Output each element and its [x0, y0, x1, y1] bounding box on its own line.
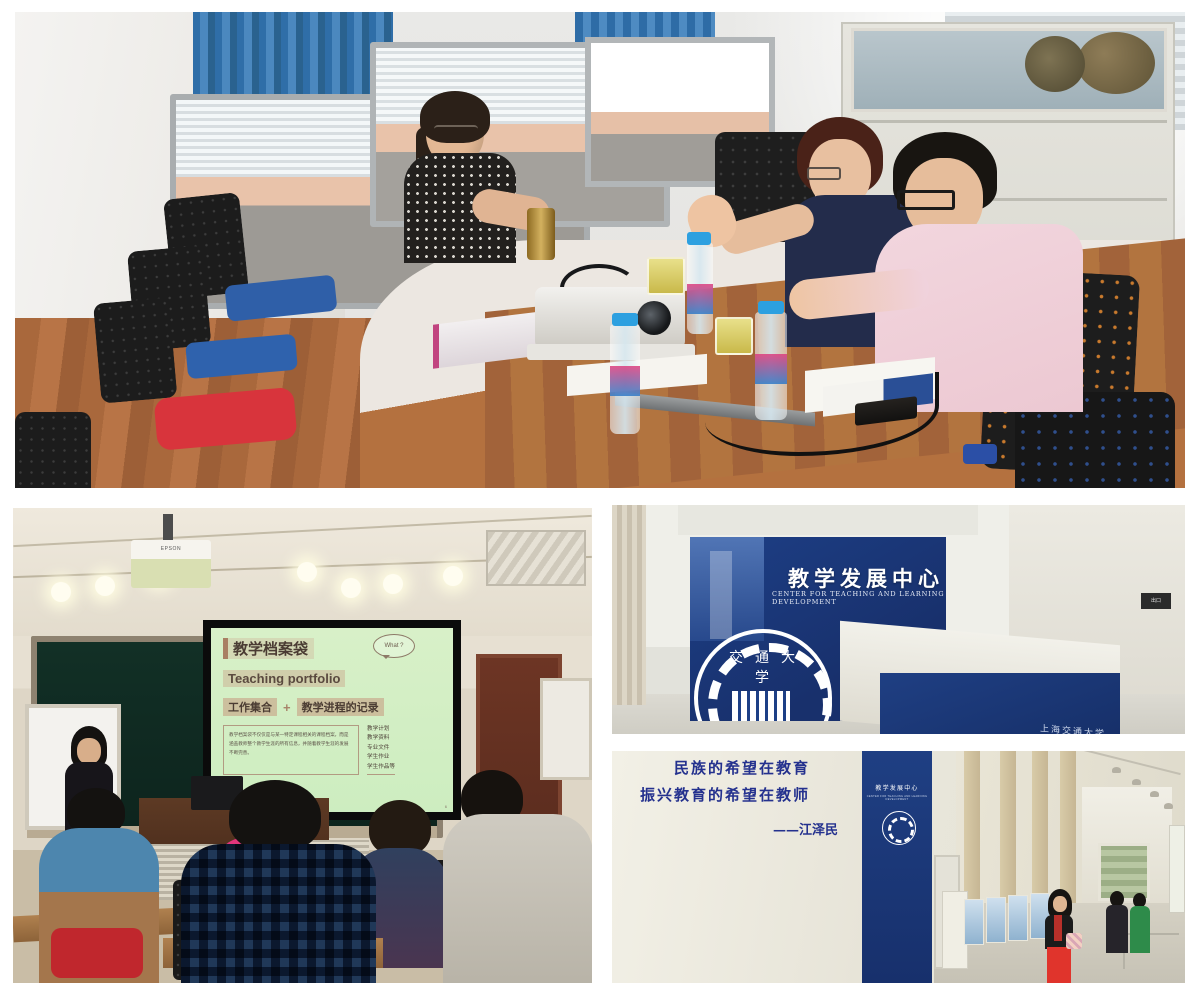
ceiling-light-icon	[443, 566, 463, 586]
list-item: 学生作品等	[367, 763, 395, 772]
projector-brand-label: EPSON	[131, 546, 211, 552]
list-item: 学生作业	[367, 753, 395, 762]
university-seal-icon	[882, 811, 916, 845]
pillar-name-cn: 教学发展中心	[862, 783, 932, 792]
seal-text: 交通大学	[720, 647, 816, 687]
glasses-icon	[897, 190, 955, 210]
projector-mount	[163, 514, 173, 542]
ceiling-light-icon	[297, 562, 317, 582]
bottle-cap-icon	[758, 301, 784, 314]
list-item: 专业文件	[367, 744, 395, 753]
air-conditioner-vent	[486, 530, 586, 586]
center-name-en: CENTER FOR TEACHING AND LEARNING DEVELOP…	[772, 590, 946, 606]
photo-meeting-room[interactable]	[15, 12, 1185, 488]
quote-line-1: 民族的希望在教育	[674, 757, 868, 778]
quote-line-2: 振兴教育的希望在教师	[640, 784, 868, 805]
university-name-cn: 上海交通大学	[1040, 721, 1106, 734]
glasses-icon	[807, 167, 841, 180]
lobby-scene: 教学发展中心 CENTER FOR TEACHING AND LEARNING …	[612, 505, 1185, 734]
tea-cup	[715, 317, 753, 355]
glass-reflection	[710, 551, 732, 639]
slide-title-cn: 教学档案袋	[223, 638, 314, 659]
decorative-plate-icon	[1025, 36, 1085, 92]
slide-formula-row: 工作集合 + 教学进程的记录	[223, 698, 441, 716]
corridor-scene: 民族的希望在教育 振兴教育的希望在教师 ——江泽民 教学发展中心 CENTER …	[612, 751, 1185, 983]
display-panel	[1008, 895, 1028, 941]
wall-window	[540, 678, 592, 780]
slide-title-en: Teaching portfolio	[223, 670, 345, 687]
photo-collage: EPSON 教学档案袋 What ? Teaching portfolio 工作…	[0, 0, 1200, 1000]
gold-thermos	[527, 208, 555, 260]
ceiling-light-icon	[341, 578, 361, 598]
center-name-cn: 教学发展中心	[788, 563, 944, 593]
person-attendee-plaid	[181, 780, 376, 983]
slide-formula-operator: +	[283, 700, 291, 715]
bottle-cap-icon	[687, 232, 711, 245]
glasses-icon	[434, 125, 478, 137]
photo-center-lobby[interactable]: 教学发展中心 CENTER FOR TEACHING AND LEARNING …	[612, 505, 1185, 734]
pendant-light-icon	[1132, 779, 1141, 785]
person-distant-green	[1130, 893, 1150, 953]
photo-corridor-quote[interactable]: 民族的希望在教育 振兴教育的希望在教师 ——江泽民 教学发展中心 CENTER …	[612, 751, 1185, 983]
projector-lens-icon	[637, 301, 671, 335]
ceiling-light-icon	[51, 582, 71, 602]
university-seal-icon: 交通大学	[694, 629, 832, 721]
counter-blue-front: 上海交通大学	[880, 673, 1120, 734]
pendant-light-icon	[1112, 767, 1121, 773]
wall-quotation: 民族的希望在教育 振兴教育的希望在教师 ——江泽民	[632, 757, 868, 838]
photo-lecture-room[interactable]: EPSON 教学档案袋 What ? Teaching portfolio 工作…	[13, 508, 592, 983]
pendant-light-icon	[1150, 791, 1159, 797]
person-attendee-grey	[443, 770, 592, 983]
bottle-cap-icon	[612, 313, 638, 326]
display-panel	[964, 899, 984, 945]
person-woman-polka-dot	[398, 97, 518, 262]
slide-bullet-list: 教学计划 教学资料 专业文件 学生作业 学生作品等	[367, 725, 395, 775]
signage-pillar: 教学发展中心 CENTER FOR TEACHING AND LEARNING …	[862, 751, 932, 983]
vga-connector-icon	[963, 444, 997, 464]
handbag-icon	[1066, 933, 1082, 949]
quote-attribution: ——江泽民	[632, 819, 868, 838]
slide-lower-row: 教学档案袋不仅仅是与某一特定课程相关的课程档案，而是涵盖教师整个教学生涯的所有信…	[223, 725, 441, 775]
pendant-light-icon	[1164, 803, 1173, 809]
meeting-room-scene	[15, 12, 1185, 488]
decorative-plate-icon	[1077, 32, 1155, 94]
notice-board	[1169, 825, 1185, 913]
list-item: 教学资料	[367, 734, 395, 743]
person-woman-red-trousers	[1042, 889, 1076, 983]
slide-formula-left: 工作集合	[223, 698, 277, 716]
audience-chair-red	[51, 928, 143, 978]
slide-paragraph: 教学档案袋不仅仅是与某一特定课程相关的课程档案，而是涵盖教师整个教学生涯的所有信…	[223, 725, 359, 775]
water-bottle	[610, 324, 640, 434]
ceiling-soffit	[678, 505, 978, 535]
exit-sign-label: 出口	[1141, 593, 1171, 609]
ceiling-light-icon	[383, 574, 403, 594]
water-bottle	[687, 242, 713, 334]
tea-cup	[647, 257, 685, 295]
exit-sign: 出口	[1141, 593, 1171, 609]
slide-speech-bubble: What ?	[373, 634, 415, 658]
pillar-name-en: CENTER FOR TEACHING AND LEARNING DEVELOP…	[862, 795, 932, 801]
lecture-room-scene: EPSON 教学档案袋 What ? Teaching portfolio 工作…	[13, 508, 592, 983]
list-item: 教学计划	[367, 725, 395, 734]
ceiling-light-icon	[95, 576, 115, 596]
slide-formula-right: 教学进程的记录	[297, 698, 384, 716]
ceiling-projector: EPSON	[131, 540, 211, 588]
window-drape	[612, 505, 646, 705]
person-distant-dark	[1106, 891, 1128, 953]
display-panel	[986, 897, 1006, 943]
